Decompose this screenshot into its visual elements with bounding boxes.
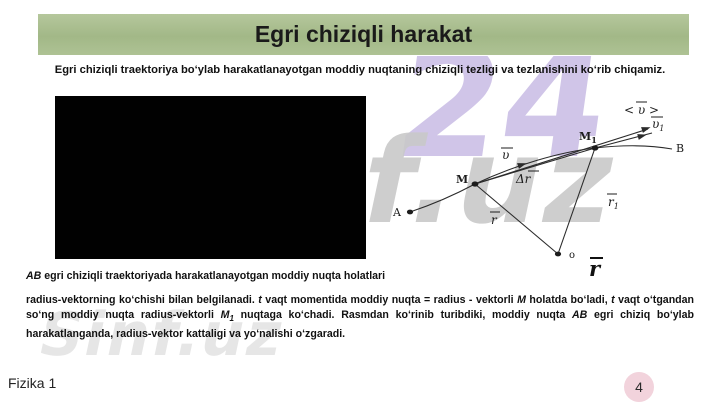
lead-rest: egri chiziqli traektoriyada harakatlanay…: [41, 270, 385, 282]
label-point-a: A: [392, 206, 402, 219]
para-part-1: radius-vektorning ko‘chishi bilan belgil…: [26, 294, 258, 306]
label-point-b: B: [676, 142, 684, 155]
video-placeholder[interactable]: [55, 96, 366, 259]
para-var-m1: M: [517, 294, 526, 306]
label-origin: o: [569, 250, 575, 261]
point-marker-m: [472, 181, 479, 186]
radius-vector-r: [475, 184, 558, 254]
radius-vector-r1: [558, 148, 595, 254]
label-delta-r: Δr: [515, 171, 539, 186]
secant-average-velocity: [475, 129, 648, 184]
trajectory-diagram: A B M M1 o υ υ1 < υ >: [380, 96, 700, 281]
para-part-5: nuqtaga ko‘chadi. Rasmdan ko‘rinib turib…: [234, 309, 572, 321]
para-var-ab: AB: [572, 309, 587, 321]
page-number-badge: 4: [624, 372, 654, 402]
para-part-2: vaqt momentida moddiy nuqta = radius - v…: [262, 294, 517, 306]
diagram-svg: A B M M1 o υ υ1 < υ >: [380, 96, 700, 281]
arrowhead-avg-v: [641, 124, 651, 132]
arrowhead-v1: [637, 132, 647, 140]
label-point-m: M: [456, 173, 468, 186]
body-lead-line: AB egri chiziqli traektoriyada harakatla…: [26, 270, 646, 282]
para-part-3: holatda bo‘ladi,: [526, 294, 611, 306]
svg-text:r: r: [491, 213, 498, 227]
point-marker-m1: [592, 145, 599, 150]
svg-text:Δr: Δr: [515, 172, 532, 186]
svg-text:υ1: υ1: [652, 117, 664, 133]
svg-text:r1: r1: [608, 195, 619, 211]
label-average-velocity: < υ >: [624, 102, 659, 117]
label-velocity-1: υ1: [651, 117, 664, 133]
slide-subtitle: Egri chiziqli traektoriya bo‘ylab haraka…: [36, 63, 684, 78]
page-title: Egri chiziqli harakat: [255, 21, 472, 48]
page-number-text: 4: [635, 379, 643, 395]
svg-text:< υ >: < υ >: [624, 103, 659, 117]
label-velocity: υ: [501, 148, 513, 162]
slide-title-banner: Egri chiziqli harakat: [37, 13, 690, 56]
trajectory-curve: [410, 146, 672, 212]
lead-italic-ab: AB: [26, 270, 41, 282]
point-marker-o: [555, 252, 561, 257]
label-point-m1: M1: [579, 130, 597, 145]
svg-text:υ: υ: [502, 148, 509, 162]
label-radius-vector-r: r: [490, 212, 500, 227]
point-marker-a: [407, 210, 413, 215]
body-paragraph: radius-vektorning ko‘chishi bilan belgil…: [26, 293, 694, 342]
label-radius-vector-r1: r1: [607, 194, 619, 211]
footer-course-label: Fizika 1: [8, 375, 56, 391]
slide-canvas: 24 Sinf.uz Sinf.uz Egri chiziqli harakat…: [0, 0, 720, 406]
